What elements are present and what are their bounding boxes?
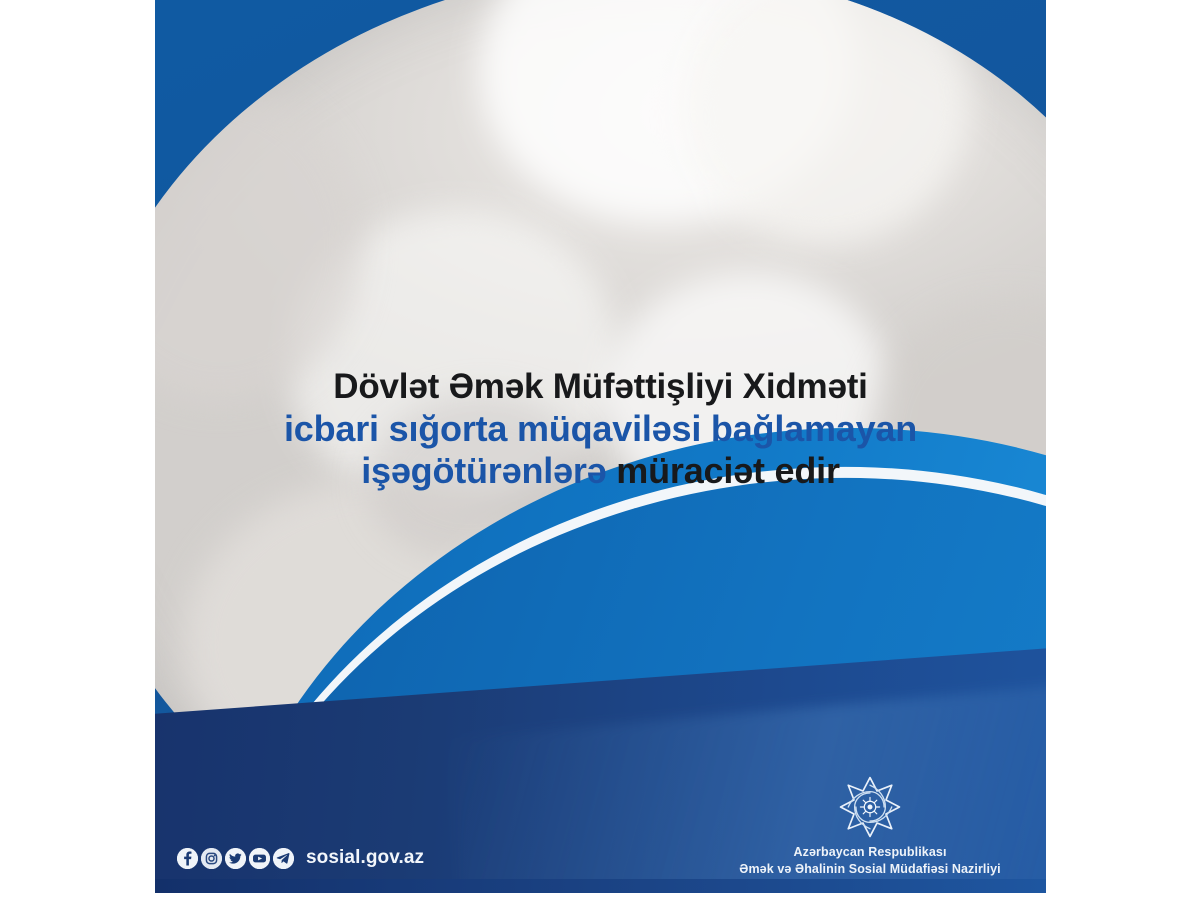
ministry-name-line-1: Azərbaycan Respublikası [710,844,1030,861]
eight-pointed-star-icon [838,775,902,839]
page-canvas: CONTRACT Dövlət Əmək Müfəttişliyi Xidmət… [0,0,1200,900]
photo-shape-b [669,0,984,258]
youtube-icon[interactable] [249,848,270,869]
ministry-name-line-2: Əmək və Əhalinin Sosial Müdafiəsi Nazirl… [710,861,1030,878]
social-media-poster: CONTRACT Dövlət Əmək Müfəttişliyi Xidmət… [155,0,1046,893]
telegram-icon[interactable] [273,848,294,869]
twitter-icon[interactable] [225,848,246,869]
footer-bottom-line [155,879,1046,893]
facebook-icon[interactable] [177,848,198,869]
website-url[interactable]: sosial.gov.az [306,847,424,869]
ministry-branding: Azərbaycan Respublikası Əmək və Əhalinin… [710,775,1030,877]
instagram-icon[interactable] [201,848,222,869]
social-links-bar: sosial.gov.az [177,847,424,869]
